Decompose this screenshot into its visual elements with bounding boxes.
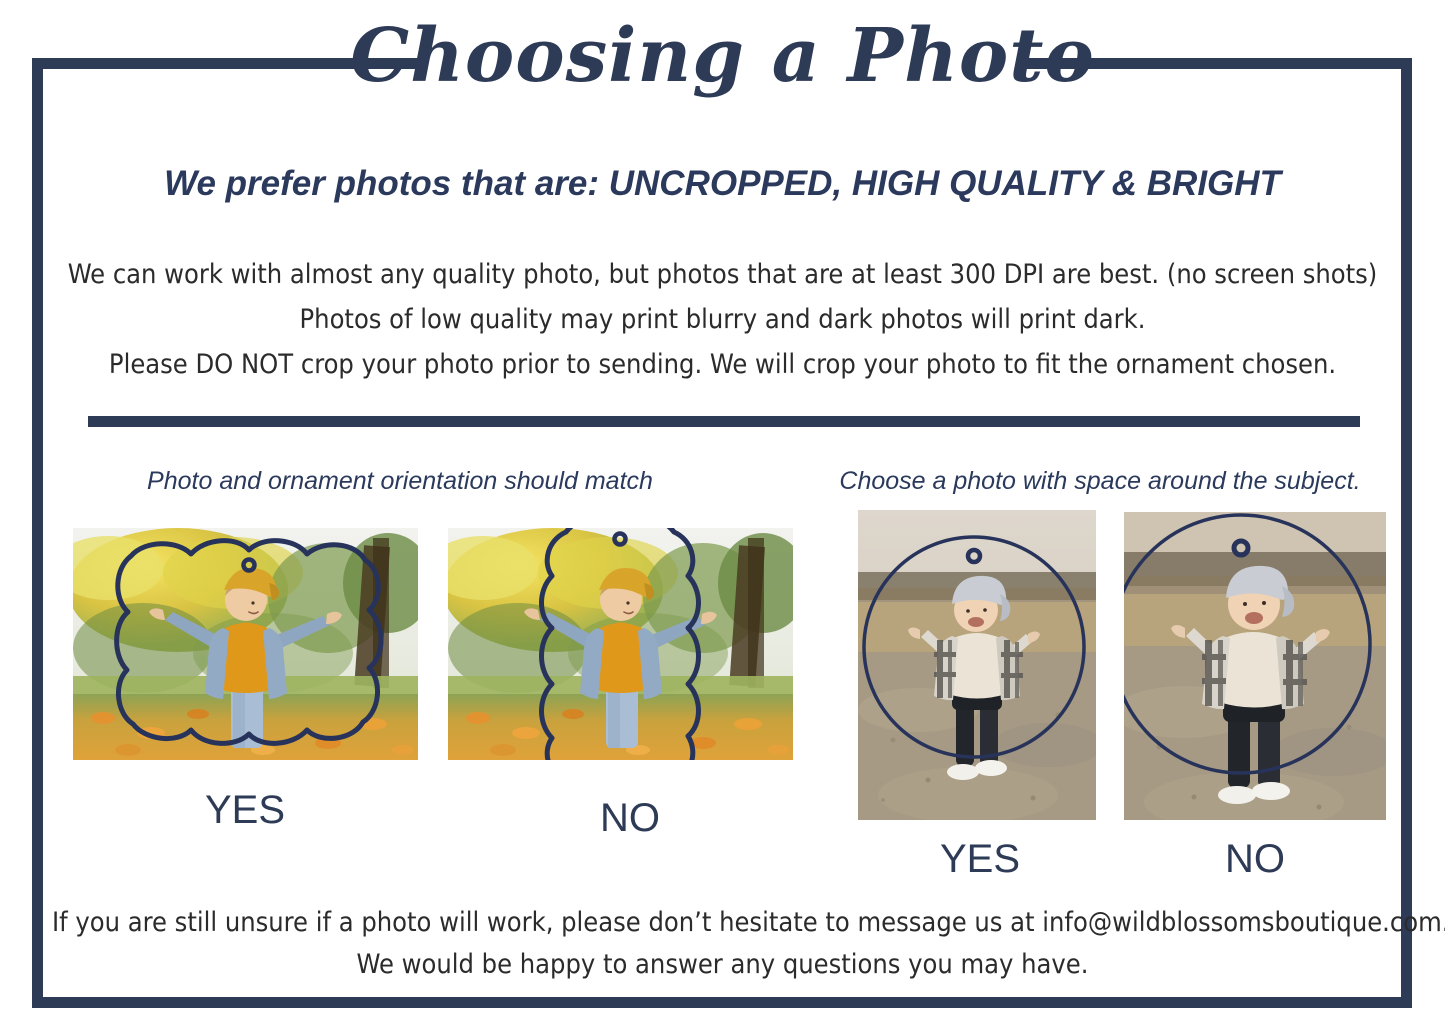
photo-autumn-child-landscape-mismatch bbox=[448, 528, 793, 760]
page-title: Choosing a Photo bbox=[0, 14, 1445, 98]
intro-line-1: We can work with almost any quality phot… bbox=[52, 252, 1393, 297]
intro-line-3: Please DO NOT crop your photo prior to s… bbox=[52, 342, 1393, 387]
intro-paragraph: We can work with almost any quality phot… bbox=[52, 252, 1393, 387]
example-portrait-yes bbox=[858, 510, 1096, 820]
photo-artwork bbox=[1124, 512, 1386, 820]
photo-artwork bbox=[448, 528, 793, 760]
verdict-portrait-yes: YES bbox=[885, 836, 1075, 882]
footer-line-1: If you are still unsure if a photo will … bbox=[52, 902, 1393, 944]
left-section-caption: Photo and ornament orientation should ma… bbox=[70, 466, 730, 496]
photo-toddler-field-wide bbox=[858, 510, 1096, 820]
example-portrait-no bbox=[1124, 512, 1386, 820]
footer-line-2: We would be happy to answer any question… bbox=[52, 944, 1393, 986]
right-section-caption: Choose a photo with space around the sub… bbox=[800, 466, 1400, 496]
verdict-landscape-no: NO bbox=[535, 795, 725, 841]
section-divider bbox=[88, 416, 1360, 427]
verdict-landscape-yes: YES bbox=[150, 787, 340, 833]
intro-line-2: Photos of low quality may print blurry a… bbox=[52, 297, 1393, 342]
photo-artwork bbox=[858, 510, 1096, 820]
verdict-portrait-no: NO bbox=[1160, 836, 1350, 882]
photo-artwork bbox=[73, 528, 418, 760]
subtitle: We prefer photos that are: UNCROPPED, HI… bbox=[0, 162, 1445, 206]
example-landscape-no bbox=[448, 528, 793, 760]
example-landscape-yes bbox=[73, 528, 418, 760]
photo-autumn-child-landscape bbox=[73, 528, 418, 760]
photo-toddler-field-cropped bbox=[1124, 512, 1386, 820]
footer-paragraph: If you are still unsure if a photo will … bbox=[52, 902, 1393, 986]
